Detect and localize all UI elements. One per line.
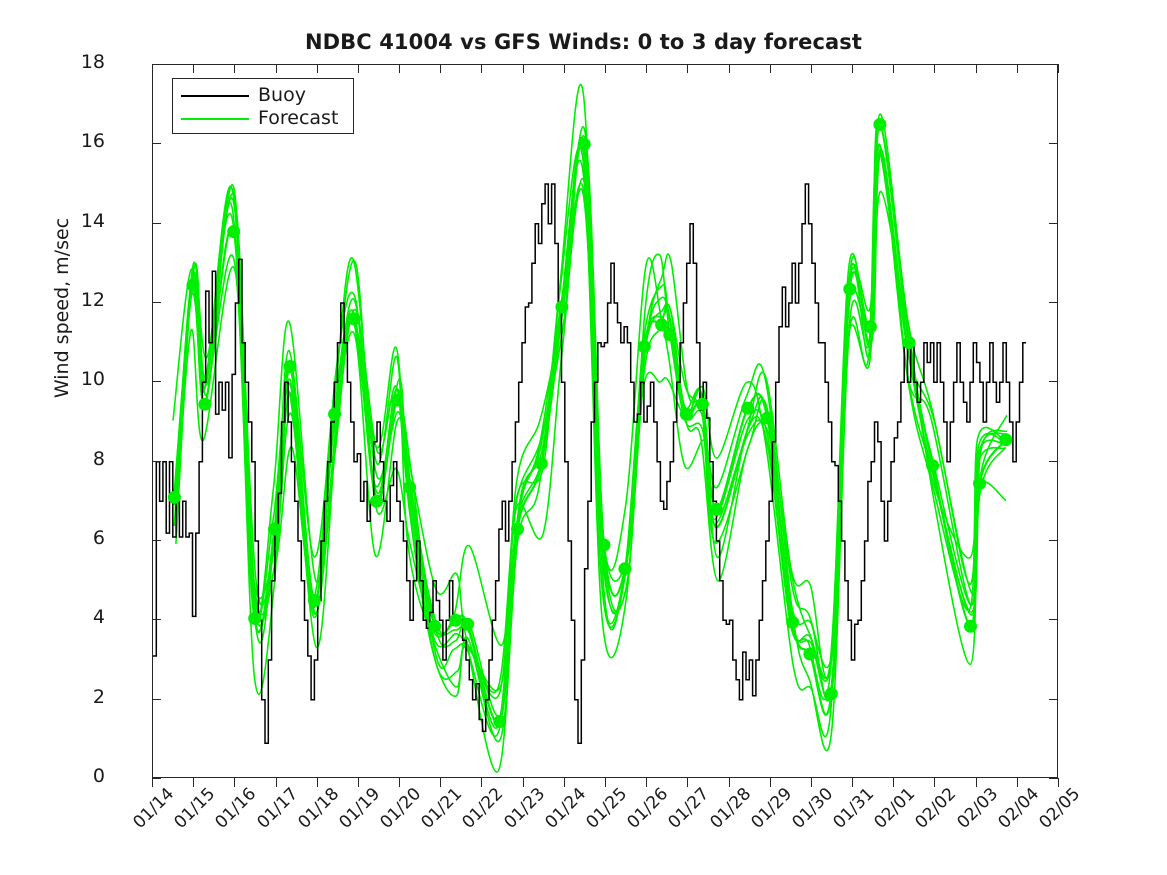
forecast-marker-point [198,398,211,411]
x-tick-mark [358,778,359,787]
x-tick-mark [523,64,524,73]
plot-canvas [153,65,1059,779]
x-tick-mark [605,778,606,787]
forecast-marker-point [903,336,916,349]
y-tick-mark [152,381,161,382]
y-tick-label: 18 [45,53,105,72]
forecast-marker-point [825,687,838,700]
x-tick-mark [317,778,318,787]
y-tick-mark [152,302,161,303]
x-tick-mark [729,778,730,787]
x-tick-mark [440,64,441,73]
x-tick-mark [399,778,400,787]
forecast-marker-point [248,612,261,625]
legend-swatch-buoy-icon [181,95,249,97]
forecast-marker-point [348,312,361,325]
forecast-marker-point [186,279,199,292]
x-tick-mark [1017,778,1018,787]
x-tick-mark [399,64,400,73]
forecast-marker-point [999,433,1012,446]
y-tick-mark [152,223,161,224]
y-tick-mark [152,143,161,144]
legend-item-forecast: Forecast [181,107,345,130]
forecast-ensemble-lines [173,84,1008,772]
y-tick-label: 14 [45,212,105,231]
x-tick-mark [646,64,647,73]
forecast-marker-point [873,118,886,131]
x-tick-mark [811,64,812,73]
y-tick-label: 2 [45,688,105,707]
y-tick-label: 0 [45,767,105,786]
y-tick-mark [1049,223,1058,224]
x-tick-mark [234,778,235,787]
forecast-marker-point [535,457,548,470]
x-tick-mark [152,64,153,73]
y-tick-label: 16 [45,132,105,151]
x-tick-mark [646,778,647,787]
x-tick-mark [193,778,194,787]
x-tick-mark [770,778,771,787]
x-tick-mark [564,64,565,73]
y-tick-mark [1049,461,1058,462]
y-tick-mark [1049,699,1058,700]
x-tick-mark [893,64,894,73]
forecast-marker-point [786,616,799,629]
forecast-marker-point [973,477,986,490]
legend-label-buoy: Buoy [258,86,306,105]
y-tick-label: 10 [45,370,105,389]
x-tick-mark [770,64,771,73]
x-tick-mark [605,64,606,73]
x-tick-mark [234,64,235,73]
forecast-marker-point [741,402,754,415]
chart-figure: NDBC 41004 vs GFS Winds: 0 to 3 day fore… [0,0,1167,875]
x-tick-mark [893,778,894,787]
y-tick-mark [1049,381,1058,382]
y-tick-mark [152,461,161,462]
y-tick-mark [1049,143,1058,144]
x-tick-mark [481,64,482,73]
legend-swatch-forecast-icon [181,118,249,120]
forecast-marker-point [663,328,676,341]
y-tick-mark [1049,540,1058,541]
y-tick-mark [152,699,161,700]
y-tick-label: 8 [45,450,105,469]
x-tick-mark [523,778,524,787]
forecast-marker-point [761,412,774,425]
forecast-marker-point [268,523,281,536]
x-tick-mark [1058,778,1059,787]
x-tick-mark [934,778,935,787]
x-tick-mark [852,778,853,787]
x-tick-mark [729,64,730,73]
forecast-marker-point [843,283,856,296]
x-tick-mark [317,64,318,73]
forecast-marker-point [449,614,462,627]
forecast-marker-point [578,138,591,151]
y-tick-mark [1049,64,1058,65]
y-tick-mark [152,64,161,65]
plot-area [152,64,1058,778]
y-tick-label: 12 [45,291,105,310]
forecast-marker-point [511,523,524,536]
forecast-ensemble-member [176,84,1006,772]
forecast-marker-point [370,495,383,508]
forecast-marker-point [964,620,977,633]
forecast-marker-point [926,459,939,472]
y-tick-mark [1049,778,1058,779]
x-tick-mark [152,778,153,787]
forecast-marker-point [308,594,321,607]
y-tick-mark [152,619,161,620]
x-tick-mark [687,778,688,787]
forecast-marker-point [618,562,631,575]
forecast-marker-point [803,648,816,661]
forecast-marker-point [403,481,416,494]
forecast-marker-point [638,340,651,353]
forecast-marker-point [391,394,404,407]
y-tick-mark [152,540,161,541]
forecast-marker-point [696,398,709,411]
forecast-marker-point [428,620,441,633]
forecast-marker-point [284,360,297,373]
x-tick-mark [1058,64,1059,73]
forecast-marker-point [493,715,506,728]
x-tick-mark [564,778,565,787]
forecast-marker-point [461,618,474,631]
x-tick-mark [440,778,441,787]
x-tick-mark [976,778,977,787]
x-tick-mark [934,64,935,73]
y-tick-mark [152,778,161,779]
page-title: NDBC 41004 vs GFS Winds: 0 to 3 day fore… [0,30,1167,54]
x-tick-mark [1017,64,1018,73]
y-tick-mark [1049,302,1058,303]
legend-item-buoy: Buoy [181,84,345,107]
forecast-marker-point [710,503,723,516]
legend-label-forecast: Forecast [258,109,338,128]
x-tick-mark [481,778,482,787]
y-tick-label: 6 [45,529,105,548]
y-tick-label: 4 [45,608,105,627]
x-tick-mark [276,64,277,73]
forecast-marker-point [168,491,181,504]
forecast-marker-point [328,408,341,421]
x-tick-mark [358,64,359,73]
y-tick-mark [1049,619,1058,620]
x-tick-mark [193,64,194,73]
x-tick-mark [852,64,853,73]
forecast-marker-point [597,539,610,552]
x-tick-mark [976,64,977,73]
forecast-marker-point [864,320,877,333]
x-tick-mark [687,64,688,73]
forecast-marker-point [227,225,240,238]
x-tick-mark [811,778,812,787]
chart-legend: Buoy Forecast [172,78,354,134]
forecast-marker-point [680,408,693,421]
forecast-marker-point [555,301,568,314]
x-tick-mark [276,778,277,787]
